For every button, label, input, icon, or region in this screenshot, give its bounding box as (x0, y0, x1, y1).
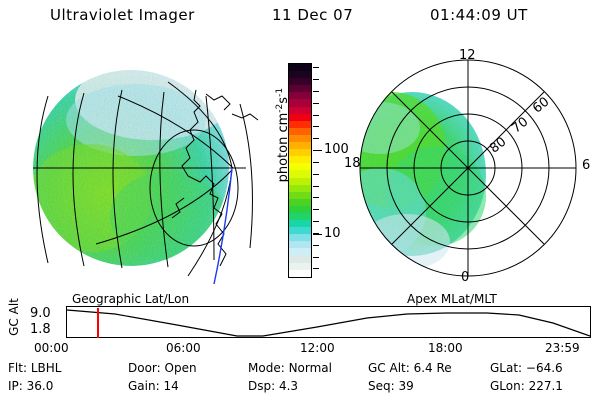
colorbar-band (289, 227, 311, 234)
status-field-label: GC Alt: (368, 361, 414, 375)
status-field: Mode: Normal (248, 361, 332, 375)
status-field-label: Mode: (248, 361, 289, 375)
page-title: Ultraviolet Imager (50, 6, 195, 24)
polar-dial (340, 46, 596, 292)
geographic-disk (18, 48, 268, 290)
status-field-label: GLat: (490, 361, 526, 375)
status-field-label: GLon: (490, 379, 529, 393)
status-field-value: Open (165, 361, 197, 375)
geographic-panel-caption: Geographic Lat/Lon (72, 292, 189, 306)
colorbar-band (289, 163, 311, 170)
colorbar-band (289, 263, 311, 270)
status-field: GLon: 227.1 (490, 379, 563, 393)
colorbar-band (289, 78, 311, 85)
colorbar-exp-2: -1 (275, 88, 285, 97)
colorbar-band (289, 178, 311, 185)
colorbar-band (289, 92, 311, 99)
status-field-value: 6.4 Re (414, 361, 452, 375)
colorbar-minor-tick (313, 221, 319, 222)
time-tick-1: 06:00 (166, 341, 201, 355)
status-field-label: Dsp: (248, 379, 279, 393)
colorbar-major-tick (313, 150, 322, 151)
status-field-label: Gain: (128, 379, 163, 393)
colorbar-band (289, 135, 311, 142)
observation-time: 01:44:09 UT (430, 6, 528, 24)
status-field: IP: 36.0 (8, 379, 53, 393)
colorbar-band (289, 185, 311, 192)
status-field-label: Flt: (8, 361, 31, 375)
mlt-label-0: 0 (461, 270, 469, 285)
status-field-label: Door: (128, 361, 165, 375)
colorbar-minor-tick (313, 67, 319, 68)
colorbar-band (289, 142, 311, 149)
orbit-y-tick-bottom: 1.8 (30, 322, 51, 337)
status-block: Flt: LBHLDoor: OpenMode: NormalGC Alt: 6… (0, 361, 600, 399)
status-field-value: 14 (163, 379, 178, 393)
status-field: Gain: 14 (128, 379, 179, 393)
colorbar-minor-tick (313, 174, 319, 175)
status-field-label: Seq: (368, 379, 398, 393)
colorbar-minor-tick (313, 257, 319, 258)
mlt-label-6: 6 (582, 158, 590, 173)
status-field-value: 4.3 (279, 379, 298, 393)
colorbar-band (289, 199, 311, 206)
colorbar-band (289, 64, 311, 71)
header-bar: Ultraviolet Imager 11 Dec 07 01:44:09 UT (0, 6, 600, 28)
mlt-label-12: 12 (459, 48, 476, 63)
orbit-y-tick-top: 9.0 (30, 306, 51, 321)
colorbar-minor-tick (313, 138, 319, 139)
status-field-value: LBHL (31, 361, 62, 375)
colorbar-minor-tick (313, 79, 319, 80)
time-tick-4: 23:59 (545, 341, 580, 355)
status-field-value: 36.0 (27, 379, 54, 393)
status-field: Dsp: 4.3 (248, 379, 298, 393)
colorbar-minor-tick (313, 115, 319, 116)
colorbar-gradient[interactable] (288, 63, 312, 278)
colorbar-minor-tick (313, 162, 319, 163)
status-field: Door: Open (128, 361, 197, 375)
colorbar-band (289, 85, 311, 92)
orbit-altitude-curve (67, 307, 590, 337)
colorbar-minor-tick (313, 103, 319, 104)
colorbar-band (289, 71, 311, 78)
status-field-label: IP: (8, 379, 27, 393)
colorbar-band (289, 128, 311, 135)
colorbar-band (289, 206, 311, 213)
time-tick-0: 00:00 (34, 341, 69, 355)
colorbar-band (289, 270, 311, 277)
colorbar-tick-label-1: 10 (324, 227, 341, 240)
colorbar-minor-tick (313, 209, 319, 210)
colorbar-minor-tick (313, 245, 319, 246)
orbit-time-axis: 00:0006:0012:0018:0023:59 (0, 341, 600, 357)
colorbar-minor-tick (313, 126, 319, 127)
colorbar-exp-1: -2 (275, 104, 285, 113)
colorbar-group: photon cm-2s-1 10010 (262, 55, 340, 290)
colorbar-band (289, 248, 311, 255)
colorbar-minor-tick (313, 197, 319, 198)
colorbar-band (289, 99, 311, 106)
time-tick-3: 18:00 (428, 341, 463, 355)
status-field: GLat: −64.6 (490, 361, 563, 375)
status-field: Flt: LBHL (8, 361, 61, 375)
apex-polar-panel[interactable]: 12 6 0 18 60 70 80 (340, 46, 596, 292)
colorbar-band (289, 156, 311, 163)
orbit-y-axis-label: GC Alt (7, 289, 21, 345)
mlt-label-18: 18 (344, 156, 361, 171)
colorbar-minor-tick (313, 91, 319, 92)
orbit-track-group: Geographic Lat/Lon Apex MLat/MLT GC Alt … (0, 292, 600, 340)
polar-panel-caption: Apex MLat/MLT (407, 292, 497, 306)
orbit-altitude-plot[interactable] (66, 306, 591, 338)
colorbar-band (289, 220, 311, 227)
time-tick-2: 12:00 (300, 341, 335, 355)
colorbar-band (289, 234, 311, 241)
geographic-image-panel[interactable] (18, 48, 268, 290)
status-field: GC Alt: 6.4 Re (368, 361, 452, 375)
status-field-value: −64.6 (526, 361, 563, 375)
colorbar-band (289, 149, 311, 156)
colorbar-band (289, 256, 311, 263)
colorbar-band (289, 241, 311, 248)
orbit-time-marker (97, 308, 99, 338)
observation-date: 11 Dec 07 (272, 6, 353, 24)
status-field: Seq: 39 (368, 379, 414, 393)
status-field-value: Normal (289, 361, 332, 375)
colorbar-band (289, 213, 311, 220)
colorbar-band (289, 114, 311, 121)
colorbar-major-tick (313, 234, 322, 235)
colorbar-minor-tick (313, 186, 319, 187)
colorbar-minor-tick (313, 268, 319, 269)
status-field-value: 39 (398, 379, 413, 393)
colorbar-band (289, 192, 311, 199)
colorbar-band (289, 107, 311, 114)
colorbar-band (289, 170, 311, 177)
status-field-value: 227.1 (529, 379, 563, 393)
colorbar-band (289, 121, 311, 128)
